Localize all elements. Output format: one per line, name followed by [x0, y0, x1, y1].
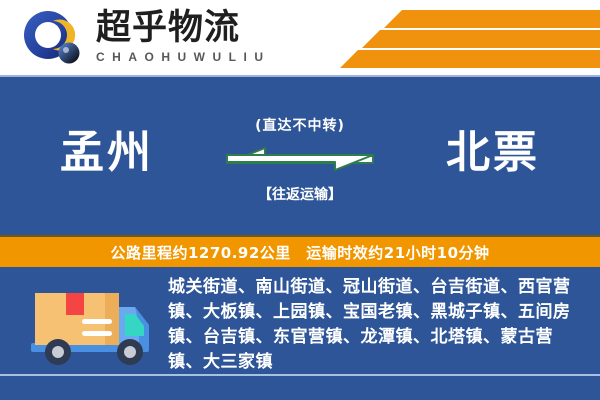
brand-name-cn: 超乎物流	[96, 8, 271, 48]
brand-name-en: CHAOHUWULIU	[96, 49, 271, 65]
brand-block: 超乎物流 CHAOHUWULIU	[96, 8, 271, 65]
route-info-bar: 公路里程约1270.92公里 运输时效约21小时10分钟	[0, 235, 600, 269]
direct-shipping-label: (直达不中转)	[215, 117, 385, 135]
orange-speed-stripes-icon	[340, 6, 600, 68]
circle-crescent-logo-icon	[22, 10, 84, 66]
coverage-areas-text: 城关街道、南山街道、冠山街道、台吉街道、西官营镇、大板镇、上园镇、宝国老镇、黑城…	[168, 275, 580, 375]
banner-header: 超乎物流 CHAOHUWULIU	[0, 0, 600, 75]
destination-city: 北票	[446, 127, 540, 179]
logistics-route-banner: 超乎物流 CHAOHUWULIU 孟州 (直达不中转) 【往返运输】 北票	[0, 0, 600, 400]
bottom-fill	[0, 376, 600, 400]
bidirectional-arrow-icon	[215, 140, 385, 182]
delivery-truck-icon	[27, 279, 155, 371]
origin-city: 孟州	[60, 127, 154, 179]
roundtrip-label: 【往返运输】	[215, 186, 385, 204]
route-arrow-group: (直达不中转) 【往返运输】	[215, 117, 385, 204]
route-info-summary: 公路里程约1270.92公里 运输时效约21小时10分钟	[110, 242, 489, 263]
route-panel: 孟州 (直达不中转) 【往返运输】 北票	[0, 75, 600, 237]
